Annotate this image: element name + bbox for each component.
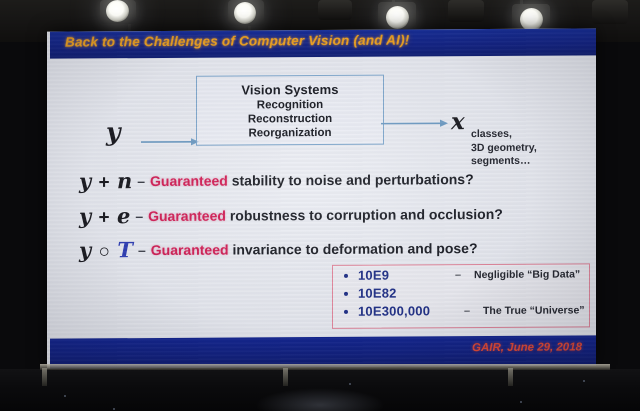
- eq3-term: y: [79, 237, 91, 262]
- arrow-right-icon: [381, 115, 448, 125]
- magnitude-dash: –: [455, 269, 461, 281]
- magnitude-description: The True “Universe”: [483, 304, 585, 317]
- light-speck: [64, 395, 66, 397]
- screen-bottom-frame: [40, 364, 610, 370]
- bullet-icon: [344, 274, 348, 278]
- eq1-dash: –: [137, 173, 145, 189]
- stage-light: [234, 2, 256, 24]
- slide-title-bar: Back to the Challenges of Computer Visio…: [50, 28, 596, 58]
- eq3-operator: ○: [99, 241, 110, 262]
- screen-support: [42, 368, 47, 386]
- eq3-emphasis: Guaranteed: [151, 242, 229, 258]
- eq1-statement: stability to noise and perturbations?: [232, 171, 474, 188]
- eq3-dash: –: [138, 242, 146, 258]
- light-housing: [448, 0, 484, 22]
- magnitude-value: 10E9: [358, 268, 389, 283]
- input-symbol-y: y: [106, 117, 121, 146]
- vision-systems-box: Vision Systems Recognition Reconstructio…: [196, 75, 384, 146]
- light-housing: [592, 0, 628, 24]
- eq1-term: y: [79, 168, 91, 193]
- output-item: segments…: [471, 155, 537, 169]
- eq1-operand: n: [117, 168, 132, 193]
- slide-footer-credit: GAIR, June 29, 2018: [472, 341, 582, 354]
- equation-lhs-1: y + n: [79, 168, 132, 193]
- bullet-icon: [344, 292, 348, 296]
- light-speck: [349, 383, 351, 385]
- magnitudes-box: 10E9 – Negligible “Big Data” 10E82 10E30…: [332, 263, 590, 329]
- auditorium-photo: Back to the Challenges of Computer Visio…: [0, 0, 640, 411]
- eq2-operator: +: [99, 207, 110, 228]
- eq2-dash: –: [135, 208, 143, 224]
- stage-light: [520, 8, 543, 31]
- screen-support: [508, 368, 513, 386]
- light-housing: [318, 0, 352, 20]
- equation-lhs-3: y ○ T: [79, 237, 133, 262]
- magnitude-description: Negligible “Big Data”: [474, 268, 580, 281]
- slide-title: Back to the Challenges of Computer Visio…: [65, 32, 409, 49]
- output-item: 3D geometry,: [471, 141, 537, 155]
- eq1-operator: +: [99, 172, 110, 193]
- magnitude-value: 10E82: [358, 286, 397, 301]
- challenge-row-2: y + e–Guaranteed robustness to corruptio…: [79, 201, 503, 230]
- light-speck: [583, 380, 585, 382]
- eq1-emphasis: Guaranteed: [150, 173, 228, 189]
- arrow-right-icon: [141, 134, 199, 144]
- magnitude-value: 10E300,000: [358, 303, 430, 318]
- vision-systems-line-1: Recognition: [197, 99, 383, 112]
- challenge-row-3: y ○ T–Guaranteed invariance to deformati…: [79, 235, 478, 263]
- eq2-emphasis: Guaranteed: [148, 208, 226, 224]
- eq2-statement: robustness to corruption and occlusion?: [230, 206, 503, 224]
- eq3-statement: invariance to deformation and pose?: [232, 240, 477, 257]
- output-item: classes,: [471, 128, 537, 142]
- eq3-operand: T: [117, 237, 133, 262]
- stage-light: [386, 6, 409, 29]
- vision-systems-line-2: Reconstruction: [197, 113, 383, 126]
- screen-support: [283, 368, 288, 386]
- equation-lhs-2: y + e: [79, 203, 130, 228]
- output-symbol-x: x: [451, 108, 465, 135]
- magnitude-row: 10E300,000 – The True “Universe”: [333, 303, 589, 324]
- output-description-list: classes, 3D geometry, segments…: [471, 128, 537, 169]
- light-speck: [113, 408, 115, 410]
- challenge-row-1: y + n–Guaranteed stability to noise and …: [79, 166, 474, 194]
- projected-slide: Back to the Challenges of Computer Visio…: [47, 28, 596, 368]
- vision-systems-line-3: Reorganization: [197, 127, 383, 140]
- stage-light: [106, 0, 129, 22]
- magnitude-dash: –: [464, 305, 470, 317]
- eq2-term: y: [79, 203, 91, 228]
- light-speck: [520, 401, 522, 403]
- eq2-operand: e: [117, 203, 130, 228]
- vision-systems-title: Vision Systems: [197, 82, 383, 98]
- bullet-icon: [344, 310, 348, 314]
